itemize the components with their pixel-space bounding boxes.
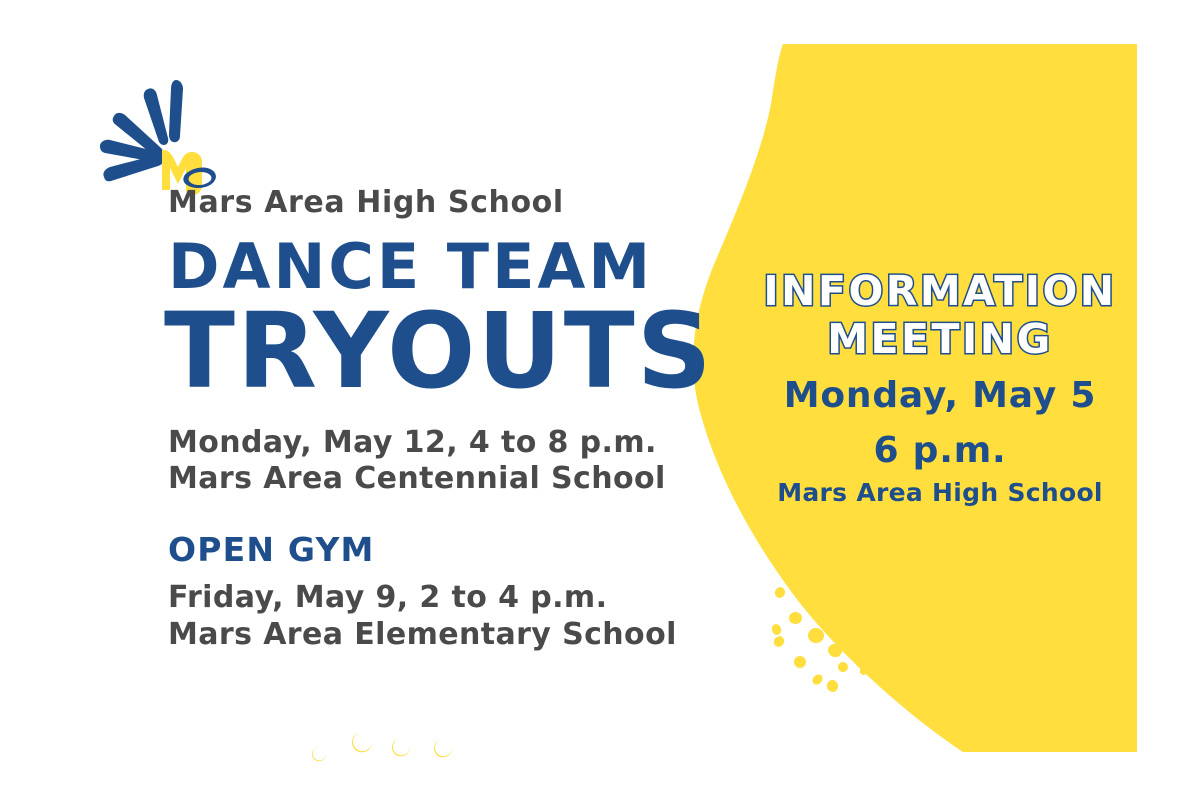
decorative-dot: [885, 612, 898, 625]
decorative-dot: [797, 566, 813, 582]
tryouts-details-block: Monday, May 12, 4 to 8 p.m. Mars Area Ce…: [168, 425, 708, 498]
decorative-dot: [829, 581, 838, 591]
decorative-dot: [867, 631, 878, 643]
open-gym-location: Mars Area Elementary School: [168, 617, 708, 654]
decorative-crescent: [392, 738, 410, 756]
poster-canvas: Mars Area High School DANCE TEAM TRYOUTS…: [0, 0, 1200, 798]
decorative-dot: [830, 612, 845, 627]
mars-area-logo: [92, 72, 242, 197]
headline-line-1: DANCE TEAM: [168, 234, 708, 299]
decorative-dot: [773, 585, 787, 599]
decorative-dot: [810, 672, 824, 686]
tryouts-datetime: Monday, May 12, 4 to 8 p.m.: [168, 425, 708, 462]
meeting-date: Monday, May 5: [760, 375, 1120, 417]
decorative-dot: [837, 661, 848, 672]
decorative-dot: [792, 654, 808, 670]
decorative-crescent: [434, 739, 452, 757]
decorative-crescent: [352, 733, 372, 753]
decorative-dot: [826, 679, 839, 693]
main-content-column: Mars Area High School DANCE TEAM TRYOUTS…: [168, 186, 708, 653]
decorative-dot: [858, 665, 869, 677]
meeting-title-line-1: INFORMATION: [760, 268, 1120, 316]
crescent-decoration-row: [312, 722, 472, 762]
decorative-dot: [826, 642, 844, 659]
open-gym-block: OPEN GYM Friday, May 9, 2 to 4 p.m. Mars…: [168, 532, 708, 653]
meeting-location: Mars Area High School: [760, 478, 1120, 508]
decorative-crescent: [312, 747, 326, 761]
tryouts-location: Mars Area Centennial School: [168, 461, 708, 498]
decorative-dot: [848, 593, 862, 607]
meeting-title-line-2: MEETING: [760, 316, 1120, 364]
meeting-time: 6 p.m.: [760, 430, 1120, 472]
open-gym-datetime: Friday, May 9, 2 to 4 p.m.: [168, 580, 708, 617]
decorative-dot: [772, 634, 787, 649]
open-gym-heading: OPEN GYM: [168, 532, 708, 568]
decorative-dot: [808, 628, 825, 644]
headline-line-2: TRYOUTS: [164, 301, 708, 403]
dot-cluster-decoration: [772, 562, 912, 702]
decorative-dot: [808, 599, 819, 611]
decorative-dot: [864, 608, 877, 621]
school-name: Mars Area High School: [168, 186, 708, 220]
decorative-dot: [770, 623, 782, 636]
information-meeting-panel: INFORMATION MEETING Monday, May 5 6 p.m.…: [760, 268, 1120, 508]
decorative-dot: [851, 627, 864, 641]
decorative-dot: [789, 612, 803, 625]
